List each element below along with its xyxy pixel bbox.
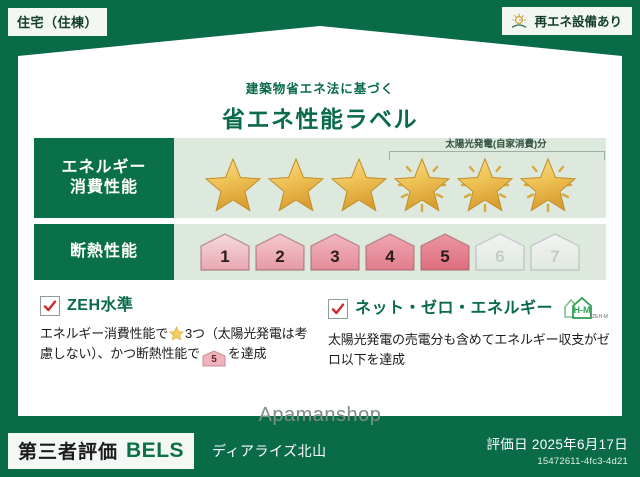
- svg-text:「ZEH-M」: 「ZEH-M」: [587, 314, 608, 320]
- insulation-grade-1: 1: [199, 232, 251, 272]
- insulation-grade-value: 2: [275, 247, 284, 272]
- zeh-text-a: エネルギー消費性能で: [40, 326, 168, 341]
- inline-grade-value: 5: [202, 350, 226, 369]
- energy-label-line1: エネルギー: [61, 158, 146, 178]
- star-icon: [204, 157, 262, 213]
- insulation-grade-3: 3: [309, 232, 361, 272]
- net-zero-criteria-body: 太陽光発電の売電分も含めてエネルギー収支がゼロ以下を達成: [328, 330, 614, 369]
- label-subtitle: 建築物省エネ法に基づく: [18, 78, 622, 97]
- energy-label-root: 建築物省エネ法に基づく 省エネ性能ラベル エネルギー 消費性能 太陽光発電(自家…: [0, 0, 640, 477]
- solar-note-label: 太陽光発電(自家消費)分: [386, 136, 606, 150]
- energy-performance-panel: エネルギー 消費性能 太陽光発電(自家消費)分: [34, 138, 606, 218]
- insulation-grade-value: 1: [220, 247, 229, 272]
- housing-type-tag: 住宅（住棟）: [8, 8, 107, 36]
- solar-star-icon: [519, 157, 577, 213]
- renewable-equipment-label: 再エネ設備あり: [534, 11, 622, 30]
- net-zero-checkbox: [328, 299, 348, 319]
- solar-star-icon: [456, 157, 514, 213]
- net-zero-criteria-block: ネット・ゼロ・エネルギー H-M 「ZEH-M」 太陽光発電の売電分も含めてエネ…: [328, 294, 614, 369]
- energy-star-rating: [182, 156, 598, 214]
- net-zero-criteria-title: ネット・ゼロ・エネルギー: [355, 297, 553, 321]
- insulation-grade-5: 5: [419, 232, 471, 272]
- net-zero-criteria-header: ネット・ゼロ・エネルギー H-M 「ZEH-M」: [328, 294, 614, 324]
- insulation-grade-7: 7: [529, 232, 581, 272]
- insulation-rating-area: 1 2 3 4 5 6 7: [174, 224, 606, 280]
- zeh-criteria-body: エネルギー消費性能で3つ（太陽光発電は考慮しない）、かつ断熱性能で5を達成: [40, 324, 316, 367]
- footer-bar: 第三者評価 BELS ディアライズ北山 評価日 2025年6月17日 15472…: [0, 421, 640, 477]
- star-icon: [169, 326, 184, 341]
- insulation-grade-6: 6: [474, 232, 526, 272]
- insulation-grade-value: 6: [495, 247, 504, 272]
- solar-star-icon: [393, 157, 451, 213]
- page-title: 省エネ性能ラベル: [18, 100, 622, 134]
- star-icon: [267, 157, 325, 213]
- energy-rating-area: 太陽光発電(自家消費)分: [174, 138, 606, 218]
- sun-icon: [510, 13, 528, 29]
- renewable-equipment-badge: 再エネ設備あり: [502, 7, 632, 35]
- label-title-block: 建築物省エネ法に基づく 省エネ性能ラベル: [18, 78, 622, 134]
- evaluation-id: 15472611-4fc3-4d21: [486, 456, 628, 467]
- insulation-grade-value: 3: [330, 247, 339, 272]
- insulation-performance-panel: 断熱性能 1 2 3 4 5 6 7: [34, 224, 606, 280]
- energy-performance-label: エネルギー 消費性能: [34, 138, 174, 218]
- star-icon: [330, 157, 388, 213]
- zeh-text-c: を達成: [228, 346, 266, 361]
- label-card-inner: 建築物省エネ法に基づく 省エネ性能ラベル エネルギー 消費性能 太陽光発電(自家…: [18, 26, 622, 416]
- zeh-m-logo-icon: H-M 「ZEH-M」: [562, 294, 608, 324]
- insulation-grade-value: 7: [550, 247, 559, 272]
- energy-label-line2: 消費性能: [70, 178, 138, 198]
- insulation-performance-label: 断熱性能: [34, 224, 174, 280]
- insulation-grade-value: 5: [440, 247, 449, 272]
- zeh-checkbox: [40, 296, 60, 316]
- insulation-grade-4: 4: [364, 232, 416, 272]
- insulation-grade-2: 2: [254, 232, 306, 272]
- zeh-criteria-title: ZEH水準: [67, 294, 134, 318]
- bels-en-label: BELS: [126, 439, 184, 463]
- insulation-label-text: 断熱性能: [70, 242, 138, 262]
- inline-grade-badge: 5: [202, 350, 226, 367]
- insulation-grade-value: 4: [385, 247, 394, 272]
- bels-jp-label: 第三者評価: [18, 437, 118, 464]
- zeh-criteria-header: ZEH水準: [40, 294, 316, 318]
- evaluation-info: 評価日 2025年6月17日 15472611-4fc3-4d21: [486, 433, 628, 467]
- zeh-criteria-block: ZEH水準 エネルギー消費性能で3つ（太陽光発電は考慮しない）、かつ断熱性能で5…: [40, 294, 316, 367]
- label-card: 建築物省エネ法に基づく 省エネ性能ラベル エネルギー 消費性能 太陽光発電(自家…: [18, 26, 622, 416]
- insulation-grade-list: 1 2 3 4 5 6 7: [174, 224, 606, 280]
- bels-badge: 第三者評価 BELS: [8, 433, 194, 469]
- evaluation-date: 評価日 2025年6月17日: [486, 433, 628, 453]
- property-name: ディアライズ北山: [212, 441, 327, 461]
